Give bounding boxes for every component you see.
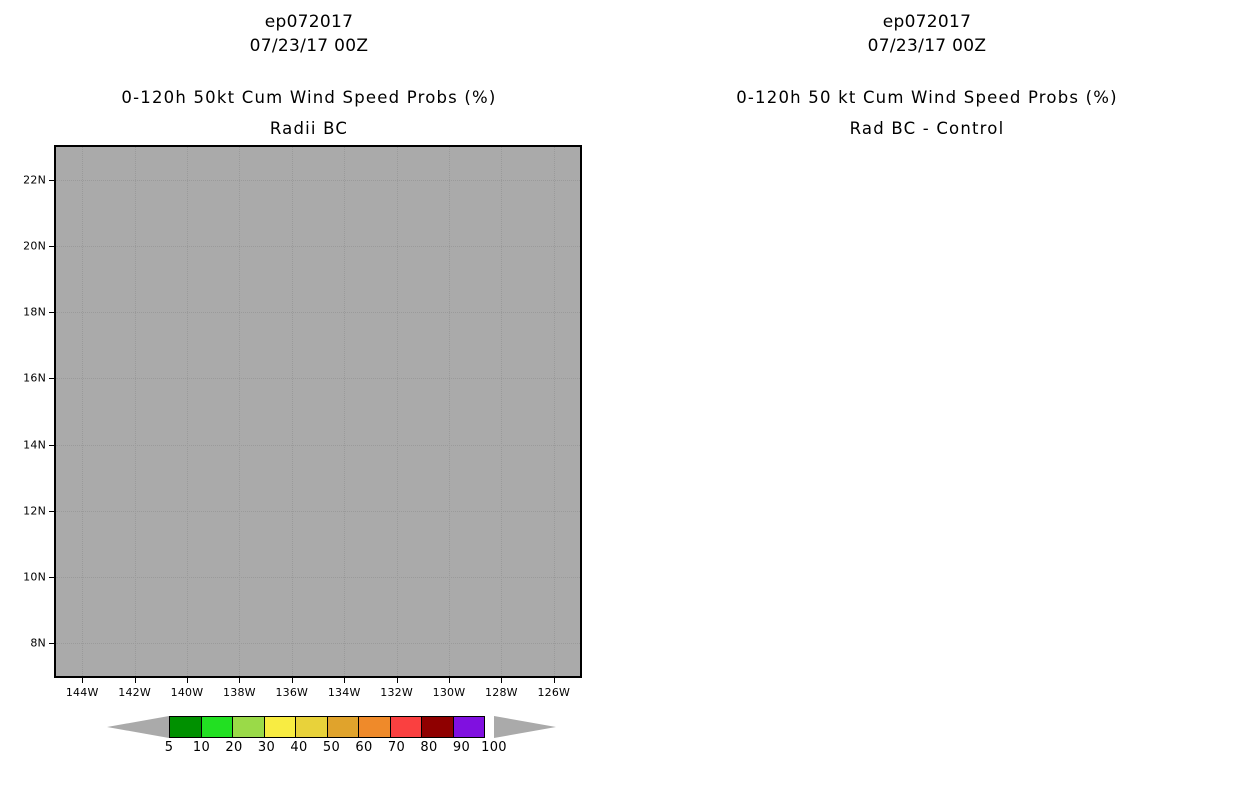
x-tick-label: 128W (485, 686, 518, 699)
x-tick-mark (82, 678, 83, 683)
gridline-horizontal (56, 577, 580, 579)
colorbar-swatch (421, 716, 454, 738)
x-tick-label: 142W (118, 686, 151, 699)
plot-area-probability (54, 145, 582, 678)
gridline-vertical (501, 147, 503, 676)
x-tick-mark (501, 678, 502, 683)
colorbar-tick-label: 80 (420, 740, 437, 755)
colorbar-tick-label: 100 (481, 740, 507, 755)
gridline-vertical (135, 147, 137, 676)
x-tick-mark (292, 678, 293, 683)
y-tick-mark (49, 180, 54, 181)
panel-right-title: 0-120h 50 kt Cum Wind Speed Probs (%) (618, 88, 1236, 107)
gridline-horizontal (56, 378, 580, 380)
colorbar-swatch (358, 716, 391, 738)
colorbar-arrow-low (107, 716, 169, 738)
x-tick-label: 126W (537, 686, 570, 699)
panel-left-storm-id: ep072017 (0, 12, 618, 32)
colorbar-swatch (264, 716, 297, 738)
x-tick-label: 130W (433, 686, 466, 699)
y-tick-mark (49, 511, 54, 512)
probability-colorbar: 5102030405060708090100 (54, 716, 582, 776)
y-tick-mark (49, 378, 54, 379)
gridline-horizontal (56, 246, 580, 248)
colorbar-tick-label: 90 (453, 740, 470, 755)
colorbar-swatch (232, 716, 265, 738)
y-tick-mark (49, 246, 54, 247)
colorbar-tick-label: 5 (165, 740, 174, 755)
y-tick-label: 20N (6, 240, 46, 253)
gridline-horizontal (56, 180, 580, 182)
y-tick-mark (49, 445, 54, 446)
x-tick-mark (397, 678, 398, 683)
colorbar-tick-label: 70 (388, 740, 405, 755)
panel-left-title: 0-120h 50kt Cum Wind Speed Probs (%) (0, 88, 618, 107)
gridline-vertical (449, 147, 451, 676)
y-tick-label: 16N (6, 372, 46, 385)
y-tick-mark (49, 577, 54, 578)
y-tick-label: 8N (6, 636, 46, 649)
colorbar-tick-label: 30 (258, 740, 275, 755)
y-tick-label: 22N (6, 174, 46, 187)
panel-left-subtitle: Radii BC (0, 119, 618, 138)
panel-left-datetime: 07/23/17 00Z (0, 36, 618, 56)
x-tick-label: 132W (380, 686, 413, 699)
panel-right-storm-id: ep072017 (618, 12, 1236, 32)
x-tick-mark (344, 678, 345, 683)
y-tick-label: 12N (6, 504, 46, 517)
x-tick-mark (239, 678, 240, 683)
y-tick-label: 14N (6, 438, 46, 451)
gridline-horizontal (56, 643, 580, 645)
gridline-horizontal (56, 445, 580, 447)
gridline-vertical (187, 147, 189, 676)
gridline-vertical (292, 147, 294, 676)
x-tick-label: 144W (66, 686, 99, 699)
x-tick-mark (135, 678, 136, 683)
gridline-horizontal (56, 511, 580, 513)
x-tick-mark (449, 678, 450, 683)
colorbar-swatch (453, 716, 486, 738)
panel-right-datetime: 07/23/17 00Z (618, 36, 1236, 56)
x-tick-label: 134W (328, 686, 361, 699)
y-tick-mark (49, 643, 54, 644)
panel-probability: ep072017 07/23/17 00Z 0-120h 50kt Cum Wi… (0, 0, 618, 800)
y-tick-label: 18N (6, 306, 46, 319)
gridline-vertical (239, 147, 241, 676)
gridline-vertical (397, 147, 399, 676)
y-tick-mark (49, 312, 54, 313)
colorbar-tick-label: 10 (193, 740, 210, 755)
colorbar-tick-label: 60 (355, 740, 372, 755)
colorbar-tick-label: 50 (323, 740, 340, 755)
gridline-vertical (82, 147, 84, 676)
colorbar-swatch (169, 716, 202, 738)
colorbar-swatch (327, 716, 360, 738)
y-tick-label: 10N (6, 570, 46, 583)
gridline-vertical (344, 147, 346, 676)
colorbar-swatch (295, 716, 328, 738)
colorbar-tick-label: 40 (290, 740, 307, 755)
x-tick-label: 138W (223, 686, 256, 699)
panel-difference: ep072017 07/23/17 00Z 0-120h 50 kt Cum W… (618, 0, 1236, 800)
gridline-horizontal (56, 312, 580, 314)
x-tick-label: 140W (171, 686, 204, 699)
colorbar-tick-label: 20 (225, 740, 242, 755)
colorbar-swatch (201, 716, 234, 738)
colorbar-arrow-high (494, 716, 556, 738)
x-tick-mark (187, 678, 188, 683)
x-tick-mark (554, 678, 555, 683)
panel-right-subtitle: Rad BC - Control (618, 119, 1236, 138)
gridline-vertical (554, 147, 556, 676)
colorbar-blocks (169, 716, 494, 738)
colorbar-swatch (390, 716, 423, 738)
x-tick-label: 136W (275, 686, 308, 699)
